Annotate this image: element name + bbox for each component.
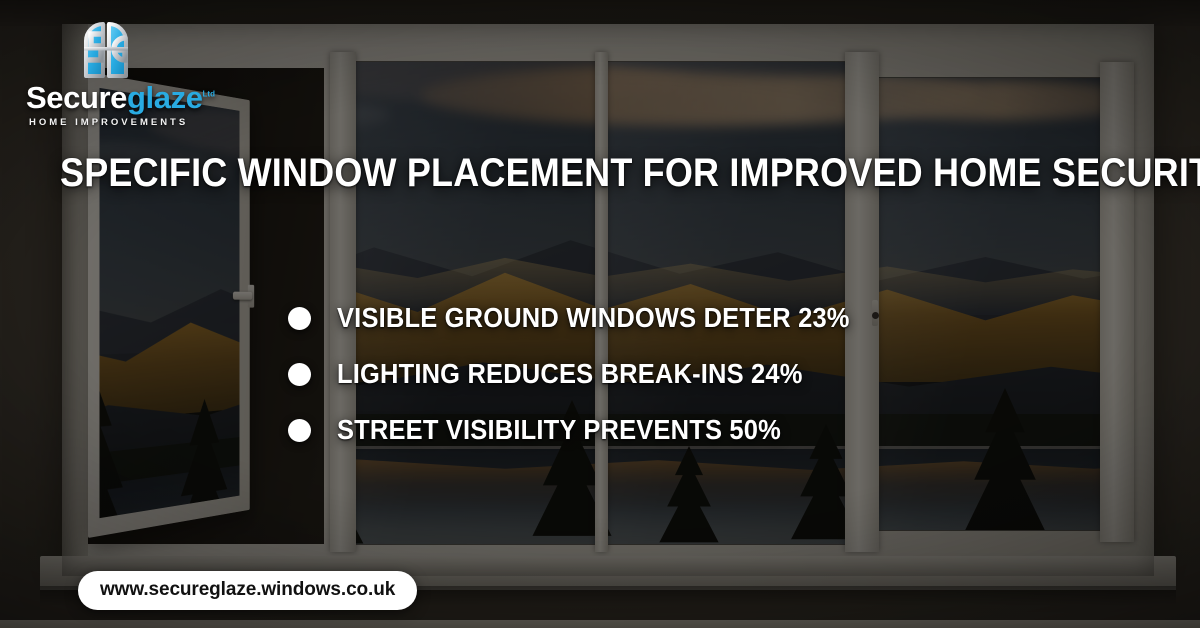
bullet-label: STREET VISIBILITY PREVENTS 50% bbox=[337, 414, 781, 446]
brand-logo[interactable]: SecureglazeLtd HOME IMPROVEMENTS bbox=[22, 20, 202, 128]
list-item: LIGHTING REDUCES BREAK-INS 24% bbox=[288, 358, 900, 390]
brand-tagline: HOME IMPROVEMENTS bbox=[22, 117, 202, 128]
brand-name-part2: glaze bbox=[127, 80, 203, 115]
bullet-list: VISIBLE GROUND WINDOWS DETER 23% LIGHTIN… bbox=[288, 302, 900, 446]
bullet-label: LIGHTING REDUCES BREAK-INS 24% bbox=[337, 358, 803, 390]
brand-name-part1: Secure bbox=[26, 80, 127, 115]
bullet-dot-icon bbox=[288, 363, 311, 386]
brand-name: SecureglazeLtd bbox=[22, 82, 202, 113]
bullet-dot-icon bbox=[288, 419, 311, 442]
bullet-label: VISIBLE GROUND WINDOWS DETER 23% bbox=[337, 302, 850, 334]
brand-trademark: Ltd bbox=[203, 90, 215, 99]
website-url-badge[interactable]: www.secureglaze.windows.co.uk bbox=[78, 571, 417, 610]
content-layer: SecureglazeLtd HOME IMPROVEMENTS SPECIFI… bbox=[0, 0, 1200, 628]
list-item: STREET VISIBILITY PREVENTS 50% bbox=[288, 414, 900, 446]
headline: SPECIFIC WINDOW PLACEMENT FOR IMPROVED H… bbox=[60, 152, 1140, 194]
bullet-dot-icon bbox=[288, 307, 311, 330]
social-card: SecureglazeLtd HOME IMPROVEMENTS SPECIFI… bbox=[0, 0, 1200, 628]
sg-window-monogram-icon bbox=[70, 20, 142, 80]
website-url-text: www.secureglaze.windows.co.uk bbox=[100, 579, 395, 600]
list-item: VISIBLE GROUND WINDOWS DETER 23% bbox=[288, 302, 900, 334]
